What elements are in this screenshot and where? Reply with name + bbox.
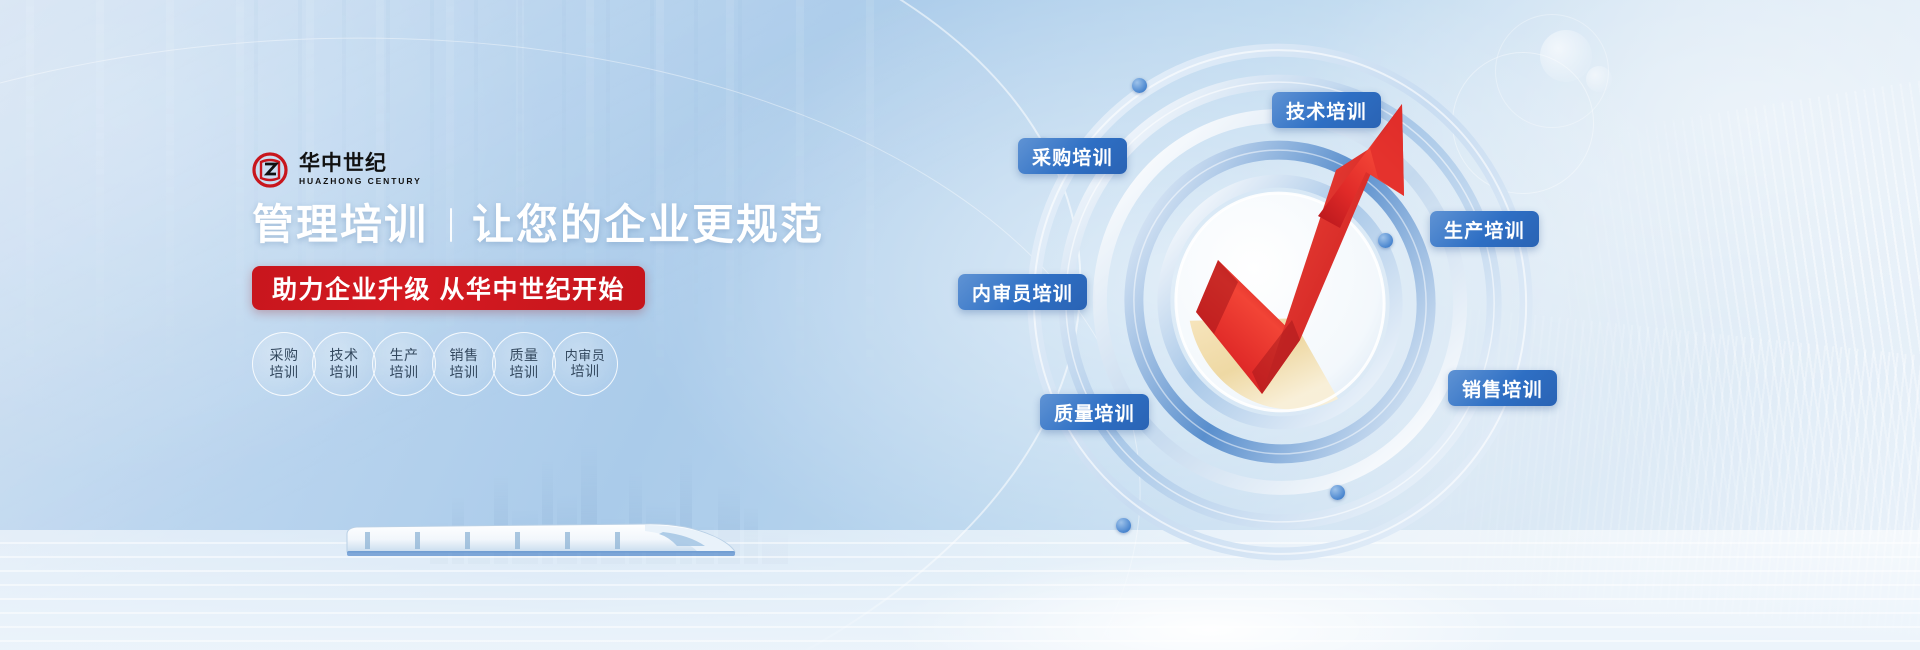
headline-right: 让您的企业更规范 — [472, 204, 824, 246]
ring-node-dot — [1378, 233, 1393, 248]
brand-logo[interactable]: 华中世纪 HUAZHONG CENTURY — [252, 150, 892, 190]
circle-line-2: 培训 — [571, 363, 600, 380]
tag-internal-auditor-training[interactable]: 内审员培训 — [958, 274, 1087, 310]
tag-label: 生产培训 — [1444, 216, 1525, 243]
tag-label: 技术培训 — [1286, 97, 1367, 124]
training-circle-technology[interactable]: 技术 培训 — [312, 332, 376, 396]
circle-line-2: 培训 — [510, 364, 539, 381]
page-title: 管理培训 让您的企业更规范 — [252, 204, 892, 246]
circle-line-2: 培训 — [450, 364, 479, 381]
city-skyline-icon — [430, 442, 788, 564]
circle-line-1: 采购 — [270, 347, 299, 364]
floor-reflection-lines — [0, 530, 1920, 650]
training-circle-internal-auditor[interactable]: 内审员 培训 — [552, 332, 618, 396]
tag-production-training[interactable]: 生产培训 — [1430, 211, 1539, 247]
tag-quality-training[interactable]: 质量培训 — [1040, 394, 1149, 430]
tag-label: 采购培训 — [1032, 143, 1113, 170]
circle-line-2: 培训 — [330, 364, 359, 381]
tag-label: 内审员培训 — [972, 279, 1073, 306]
headline-divider — [450, 208, 452, 242]
training-circle-production[interactable]: 生产 培训 — [372, 332, 436, 396]
ring-node-dot — [1132, 78, 1147, 93]
floor-plane — [0, 530, 1920, 650]
tag-label: 质量培训 — [1054, 399, 1135, 426]
circle-line-1: 内审员 — [565, 348, 606, 363]
headline-left: 管理培训 — [252, 204, 428, 246]
training-circle-sales[interactable]: 销售 培训 — [432, 332, 496, 396]
tag-sales-training[interactable]: 销售培训 — [1448, 370, 1557, 406]
circle-line-1: 生产 — [390, 347, 419, 364]
circle-line-1: 技术 — [330, 347, 359, 364]
circle-line-1: 销售 — [450, 347, 479, 364]
circle-line-2: 培训 — [390, 364, 419, 381]
tag-label: 销售培训 — [1462, 375, 1543, 402]
bullet-train-icon — [345, 518, 740, 562]
brand-wordmark: 华中世纪 HUAZHONG CENTURY — [299, 153, 422, 187]
ring-node-dot — [1330, 485, 1345, 500]
training-circle-procurement[interactable]: 采购 培训 — [252, 332, 316, 396]
banner-root: 技术培训 采购培训 生产培训 内审员培训 销售培训 质量培训 华中世纪 HUAZ… — [0, 0, 1920, 650]
slogan-badge: 助力企业升级 从华中世纪开始 — [252, 266, 645, 310]
bokeh-dot — [1586, 66, 1612, 92]
hero-content: 华中世纪 HUAZHONG CENTURY 管理培训 让您的企业更规范 助力企业… — [252, 150, 892, 396]
brand-name-cn: 华中世纪 — [299, 153, 422, 175]
circle-line-2: 培训 — [270, 364, 299, 381]
training-circle-quality[interactable]: 质量 培训 — [492, 332, 556, 396]
huazhong-seal-icon — [252, 152, 288, 188]
ring-node-dot — [1116, 518, 1131, 533]
circle-line-1: 质量 — [510, 347, 539, 364]
tag-technology-training[interactable]: 技术培训 — [1272, 92, 1381, 128]
training-circle-list: 采购 培训 技术 培训 生产 培训 销售 培训 质量 培训 内审员 培训 — [252, 332, 892, 396]
slogan-text: 助力企业升级 从华中世纪开始 — [272, 270, 625, 306]
brand-name-en: HUAZHONG CENTURY — [299, 176, 422, 187]
tag-procurement-training[interactable]: 采购培训 — [1018, 138, 1127, 174]
